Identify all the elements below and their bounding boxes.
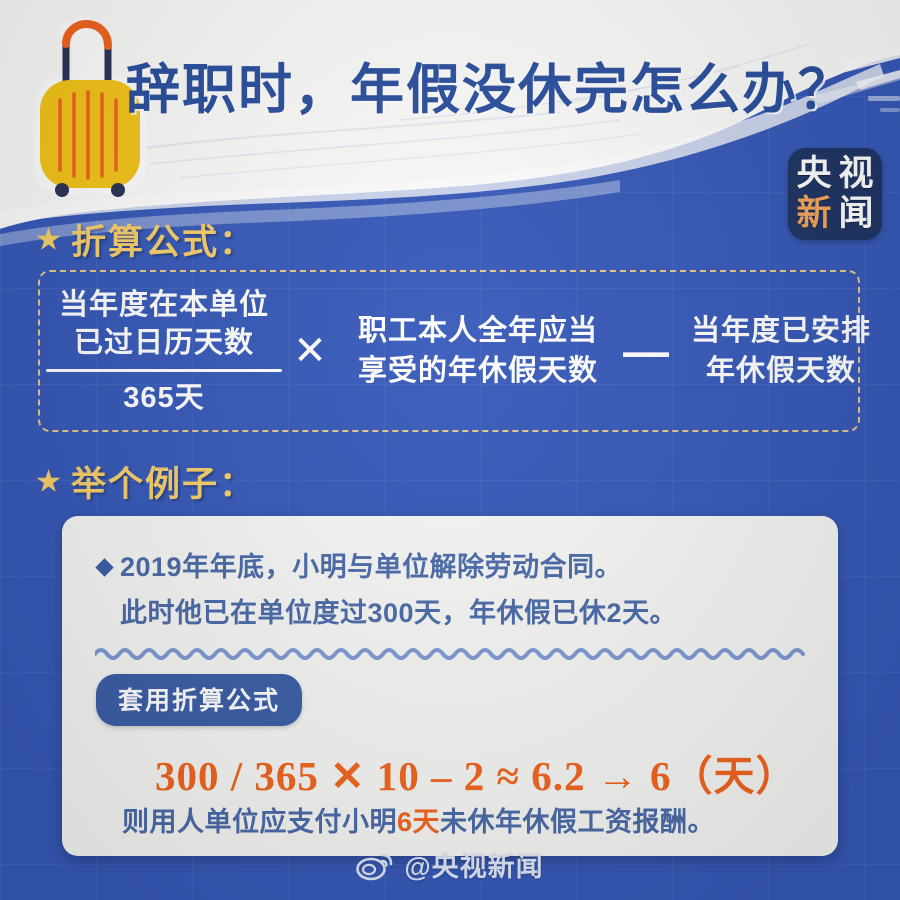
formula-term1-line2: 享受的年休假天数	[338, 351, 618, 391]
logo-char-1: 央	[793, 154, 835, 194]
weibo-icon	[356, 849, 394, 881]
example-description: 2019年年底，小明与单位解除劳动合同。 此时他已在单位度过300天，年休假已休…	[98, 544, 698, 636]
section-heading-formula: 折算公式：	[36, 214, 256, 265]
infographic-poster: 辞职时，年假没休完怎么办？ 央 视 新 闻 折算公式： 当年度在本单位 已过日历…	[0, 0, 900, 900]
fraction-bar	[46, 369, 282, 372]
formula-term2-line2: 年休假天数	[674, 351, 888, 391]
diamond-bullet-icon	[95, 558, 113, 576]
conclusion-highlight: 6天	[397, 807, 440, 837]
conclusion-suffix: 未休年休假工资报酬。	[440, 807, 715, 837]
multiply-operator: ✕	[282, 331, 338, 371]
conclusion-prefix: 则用人单位应支付小明	[122, 807, 397, 837]
conversion-formula-box: 当年度在本单位 已过日历天数 365天 ✕ 职工本人全年应当 享受的年休假天数 …	[38, 270, 860, 432]
minus-operator: —	[618, 331, 674, 371]
example-conclusion: 则用人单位应支付小明6天未休年休假工资报酬。	[122, 800, 715, 839]
cctv-news-logo: 央 视 新 闻	[788, 148, 882, 240]
page-title: 辞职时，年假没休完怎么办？	[126, 45, 854, 124]
star-icon	[36, 227, 61, 252]
logo-char-2: 视	[835, 154, 877, 194]
star-icon	[36, 469, 61, 494]
section-heading-example-label: 举个例子：	[71, 456, 256, 507]
formula-denominator: 365天	[46, 380, 282, 416]
formula-term2-line1: 当年度已安排	[674, 311, 888, 351]
wavy-divider	[95, 644, 805, 664]
formula-term-annual-entitlement: 职工本人全年应当 享受的年休假天数	[338, 311, 618, 391]
example-line-2: 此时他已在单位度过300天，年休假已休2天。	[98, 590, 698, 636]
formula-term1-line1: 职工本人全年应当	[338, 311, 618, 351]
example-line-2-text: 此时他已在单位度过300天，年休假已休2天。	[120, 590, 677, 636]
footer: @央视新闻	[0, 845, 900, 884]
section-heading-example: 举个例子：	[36, 456, 256, 507]
formula-term-already-taken: 当年度已安排 年休假天数	[674, 311, 888, 391]
formula-numerator-line1: 当年度在本单位	[46, 286, 282, 324]
formula-numerator-line2: 已过日历天数	[46, 324, 282, 362]
weibo-account-name: @央视新闻	[404, 845, 543, 884]
logo-char-3: 新	[793, 194, 835, 234]
calculation-result: 300 / 365 ✕ 10 – 2 ≈ 6.2 → 6（天）	[155, 742, 798, 802]
section-heading-formula-label: 折算公式：	[71, 214, 256, 265]
example-line-1: 2019年年底，小明与单位解除劳动合同。	[98, 544, 698, 590]
example-line-1-text: 2019年年底，小明与单位解除劳动合同。	[120, 544, 622, 590]
apply-formula-badge: 套用折算公式	[96, 674, 302, 726]
logo-char-4: 闻	[835, 194, 877, 234]
formula-fraction: 当年度在本单位 已过日历天数 365天	[46, 286, 282, 416]
